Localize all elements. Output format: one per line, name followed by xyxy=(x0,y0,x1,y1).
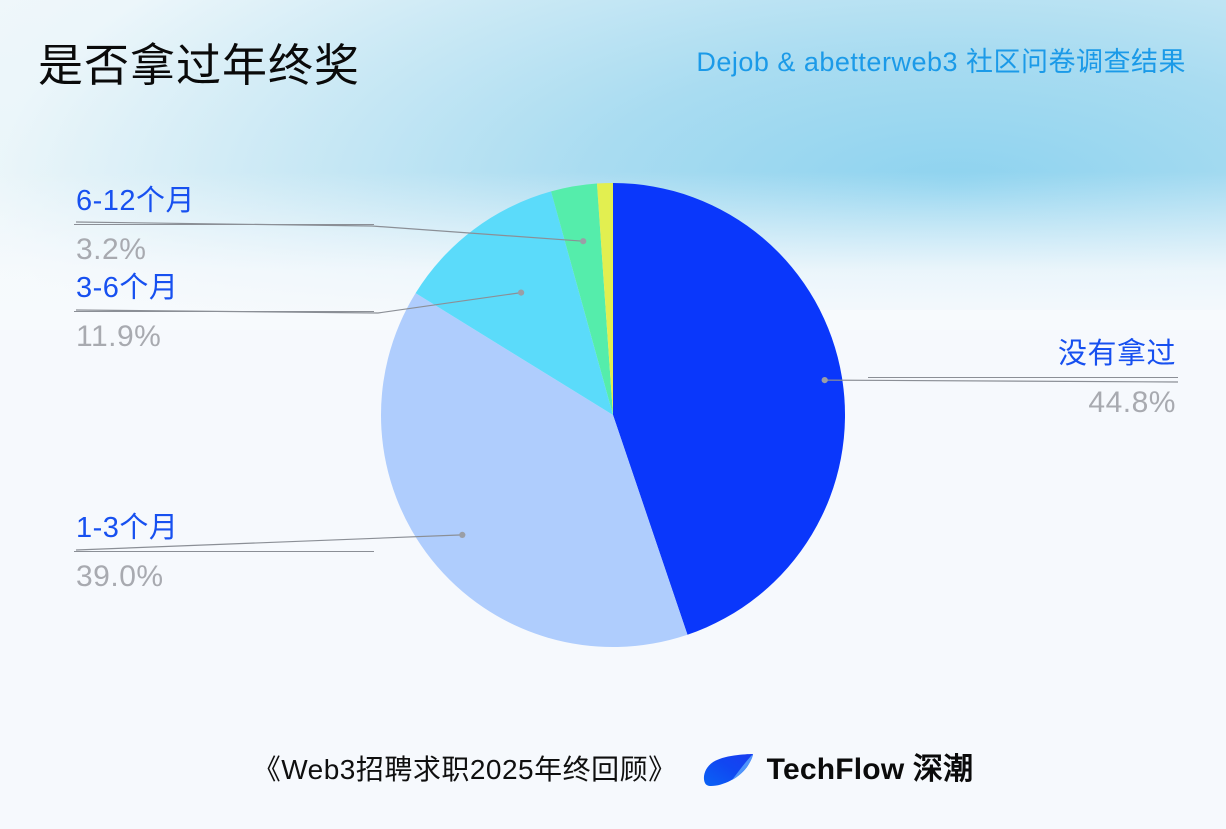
callout-none-label: 没有拿过 xyxy=(868,334,1178,377)
slide-canvas: 是否拿过年终奖 Dejob & abetterweb3 社区问卷调查结果 没有拿… xyxy=(0,0,1226,829)
callout-1-to-3-months-percent: 39.0% xyxy=(74,552,374,600)
leaf-logo-icon xyxy=(703,753,755,787)
brand-name: TechFlow 深潮 xyxy=(767,752,974,788)
brand-lockup: TechFlow 深潮 xyxy=(703,752,974,788)
callout-6-to-12-months-label: 6-12个月 xyxy=(74,181,374,224)
callout-none-percent: 44.8% xyxy=(868,378,1178,426)
callout-none: 没有拿过 44.8% xyxy=(868,334,1178,426)
callout-3-to-6-months-label: 3-6个月 xyxy=(74,268,374,311)
callout-1-to-3-months: 1-3个月 39.0% xyxy=(74,508,374,600)
page-title: 是否拿过年终奖 xyxy=(38,36,360,96)
report-title-caption: 《Web3招聘求职2025年终回顾》 xyxy=(253,750,677,790)
callout-6-to-12-months: 6-12个月 3.2% xyxy=(74,181,374,273)
footer: 《Web3招聘求职2025年终回顾》 TechFlow 深潮 xyxy=(0,740,1226,800)
callout-3-to-6-months-percent: 11.9% xyxy=(74,312,374,360)
callout-6-to-12-months-percent: 3.2% xyxy=(74,225,374,273)
callout-1-to-3-months-label: 1-3个月 xyxy=(74,508,374,551)
survey-source-subtitle: Dejob & abetterweb3 社区问卷调查结果 xyxy=(696,42,1186,82)
callout-3-to-6-months: 3-6个月 11.9% xyxy=(74,268,374,360)
